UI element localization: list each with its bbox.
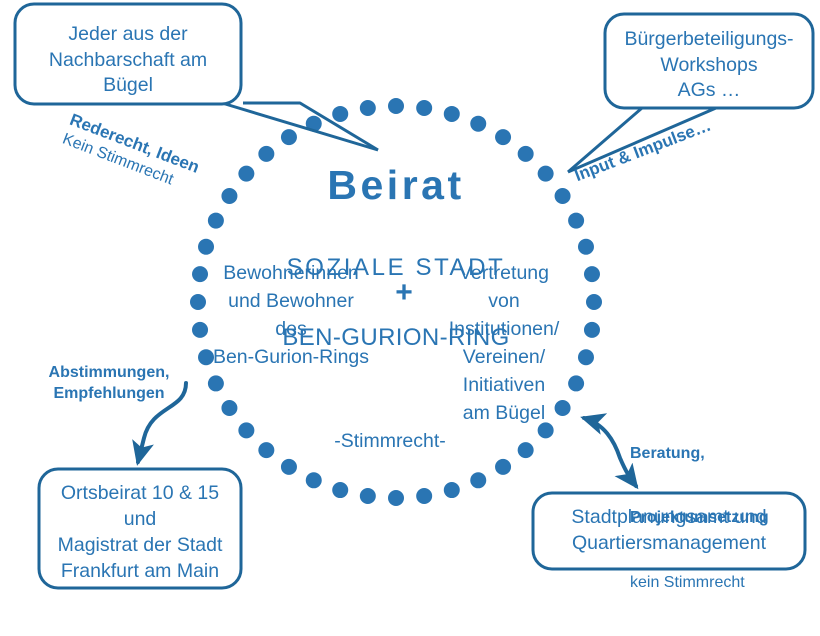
arrow-beratung-bidirectional [584, 418, 636, 486]
ring-dot [281, 459, 297, 475]
ring-dot [306, 472, 322, 488]
ring-dot [360, 488, 376, 504]
ring-column-right: Vertretung von Institutionen/ Vereinen/ … [424, 259, 584, 427]
ring-dot [416, 488, 432, 504]
diagram-canvas: Jeder aus der Nachbarschaft am Bügel Red… [0, 0, 820, 600]
ring-footer-stimmrecht: -Stimmrecht- [290, 430, 490, 454]
ring-column-left: Bewohnerinnen und Bewohner des Ben-Gurio… [196, 259, 386, 371]
label-abstimmungen: Abstimmungen, Empfehlungen [24, 362, 194, 405]
ring-dot [444, 482, 460, 498]
ring-dot [470, 472, 486, 488]
ring-dot [416, 100, 432, 116]
ring-dot [221, 400, 237, 416]
ring-dot [388, 98, 404, 114]
box-stadtplanungsamt-text: Stadtplanungsamt und Quartiersmanagement [537, 505, 801, 557]
box-ortsbeirat-text: Ortsbeirat 10 & 15 und Magistrat der Sta… [42, 481, 238, 585]
ring-dot [258, 442, 274, 458]
ring-dot [444, 106, 460, 122]
ring-title-main: Beirat [196, 165, 596, 206]
label-beratung-line3: kein Stimmrecht [630, 572, 810, 593]
ring-dot [238, 422, 254, 438]
label-beratung-line1: Beratung, [630, 443, 810, 464]
ring-dot [332, 106, 348, 122]
ring-dot [332, 482, 348, 498]
ring-dot [518, 442, 534, 458]
ring-dot [360, 100, 376, 116]
callout-top-left-text: Jeder aus der Nachbarschaft am Bügel [22, 22, 234, 99]
ring-dot [388, 490, 404, 506]
callout-top-right-text: Bürgerbeteiligungs- Workshops AGs … [611, 27, 807, 104]
ring-dot [495, 459, 511, 475]
plus-sign: + [386, 275, 422, 312]
